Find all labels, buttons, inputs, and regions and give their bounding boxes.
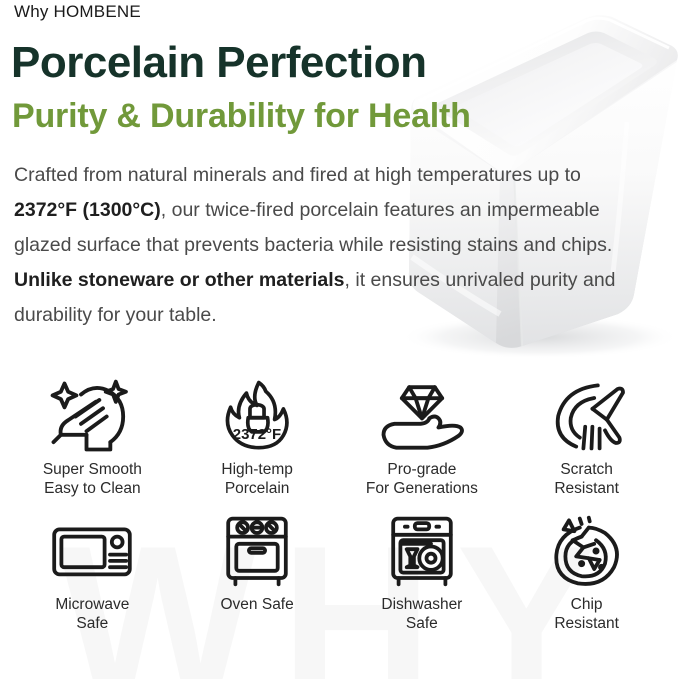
page-subtitle: Purity & Durability for Health bbox=[12, 99, 471, 135]
comparison-highlight: Unlike stoneware or other materials bbox=[14, 269, 345, 291]
feature-label: Super Smooth Easy to Clean bbox=[43, 460, 142, 498]
flame-temperature-icon: 2372°F bbox=[213, 378, 301, 454]
diamond-hand-icon bbox=[376, 378, 468, 454]
temperature-badge: 2372°F bbox=[233, 426, 281, 443]
feature-label: Microwave Safe bbox=[55, 595, 129, 633]
feature-grid: Super Smooth Easy to Clean 2372°F High-t… bbox=[10, 378, 669, 633]
feature-label: High-temp Porcelain bbox=[221, 460, 293, 498]
temperature-highlight: 2372°F (1300°C) bbox=[14, 199, 161, 221]
cracked-plate-icon bbox=[542, 513, 632, 589]
sparkle-hand-wipe-icon bbox=[46, 378, 138, 454]
feature-row-1: Super Smooth Easy to Clean 2372°F High-t… bbox=[10, 378, 669, 498]
desc-p1-lead: Crafted from natural minerals and fired … bbox=[14, 164, 581, 186]
feature-microwave-safe: Microwave Safe bbox=[10, 513, 175, 633]
product-feature-panel: WHY bbox=[0, 0, 679, 679]
feature-super-smooth: Super Smooth Easy to Clean bbox=[10, 378, 175, 498]
feature-label: Dishwasher Safe bbox=[381, 595, 462, 633]
page-title: Porcelain Perfection bbox=[11, 40, 426, 86]
description-paragraph-1: Crafted from natural minerals and fired … bbox=[14, 164, 612, 256]
feature-dishwasher-safe: Dishwasher Safe bbox=[340, 513, 505, 633]
feature-pro-grade: Pro-grade For Generations bbox=[340, 378, 505, 498]
description-paragraph-2: Unlike stoneware or other materials, it … bbox=[14, 269, 616, 326]
feature-label: Chip Resistant bbox=[554, 595, 619, 633]
feature-label: Pro-grade For Generations bbox=[366, 460, 478, 498]
feature-chip-resistant: Chip Resistant bbox=[504, 513, 669, 633]
feature-row-2: Microwave Safe bbox=[10, 513, 669, 633]
description-text: Crafted from natural minerals and fired … bbox=[14, 158, 629, 333]
microwave-icon bbox=[47, 513, 137, 589]
dishwasher-icon bbox=[377, 513, 467, 589]
knife-scratch-plate-icon bbox=[542, 378, 632, 454]
feature-high-temp: 2372°F High-temp Porcelain bbox=[175, 378, 340, 498]
feature-scratch-resistant: Scratch Resistant bbox=[504, 378, 669, 498]
feature-label: Oven Safe bbox=[221, 595, 294, 614]
brand-label: Why HOMBENE bbox=[14, 2, 141, 22]
oven-icon bbox=[212, 513, 302, 589]
feature-oven-safe: Oven Safe bbox=[175, 513, 340, 633]
feature-label: Scratch Resistant bbox=[554, 460, 619, 498]
